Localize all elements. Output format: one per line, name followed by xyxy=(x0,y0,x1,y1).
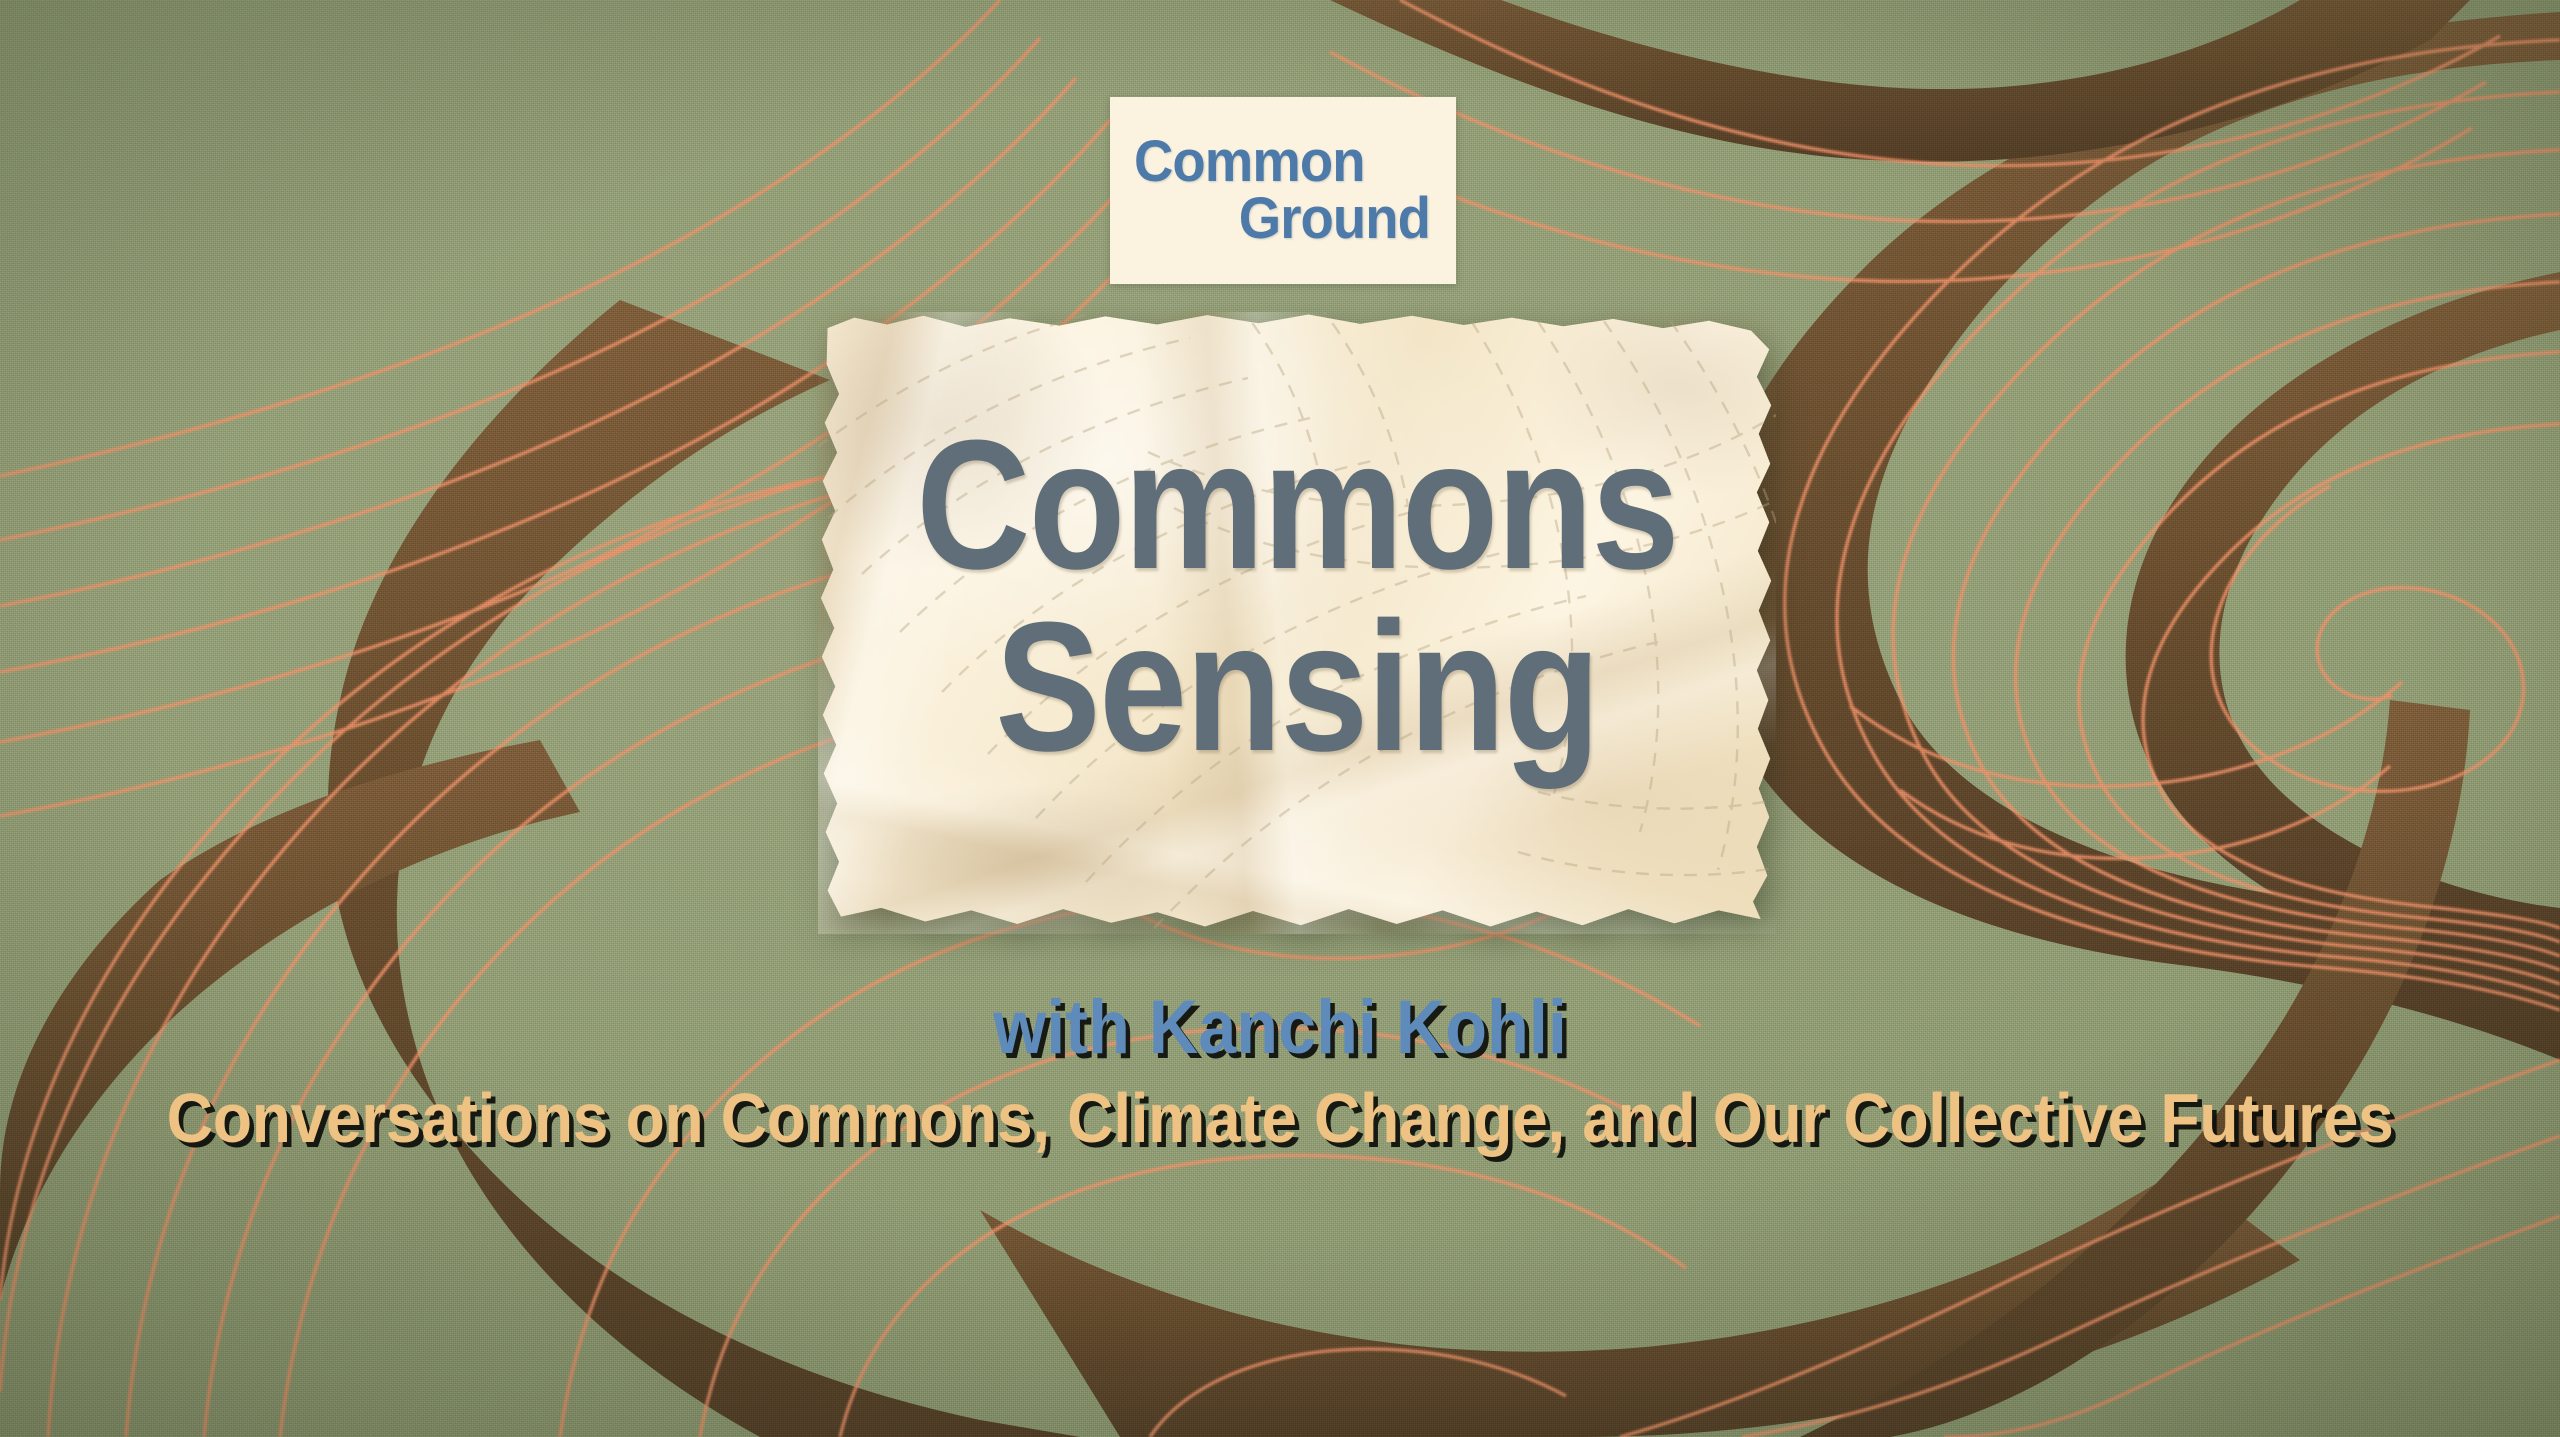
title-line-commons: Commons xyxy=(885,420,1709,589)
logo-line-common: Common xyxy=(1134,134,1412,190)
common-ground-logo[interactable]: Common Ground xyxy=(1110,97,1456,284)
logo-line-ground: Ground xyxy=(1152,191,1430,247)
host-credit: with Kanchi Kohli xyxy=(128,984,2432,1071)
torn-paper-icon: Commons Sensing xyxy=(818,312,1776,934)
show-tagline: Conversations on Commons, Climate Change… xyxy=(102,1078,2457,1158)
title-line-sensing: Sensing xyxy=(885,602,1709,771)
podcast-title-card: Common Ground xyxy=(0,0,2560,1437)
